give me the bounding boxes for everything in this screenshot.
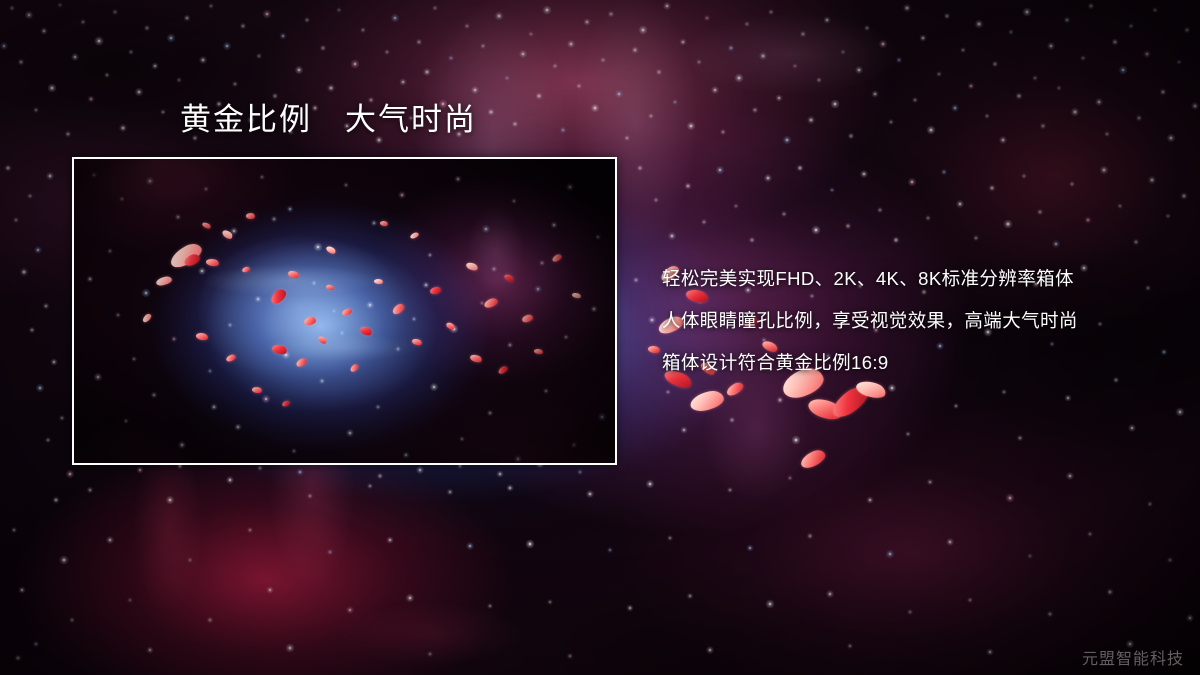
display-panel-frame [72, 157, 617, 465]
slide-canvas: 黄金比例 大气时尚 轻松完美实现FHD、2K、4K、8K标准分辨率箱体 人体眼睛… [0, 0, 1200, 675]
panel-vignette [74, 159, 615, 463]
body-line-2: 人体眼睛瞳孔比例，享受视觉效果，高端大气时尚 [662, 300, 1162, 342]
slide-title: 黄金比例 大气时尚 [180, 101, 477, 140]
watermark-label: 元盟智能科技 [1082, 645, 1184, 669]
flower-petal [647, 345, 660, 355]
flower-petal [828, 383, 872, 422]
flower-petal [806, 394, 844, 423]
flower-petal [798, 447, 827, 470]
display-panel-content [74, 159, 615, 463]
body-text-block: 轻松完美实现FHD、2K、4K、8K标准分辨率箱体 人体眼睛瞳孔比例，享受视觉效… [662, 258, 1162, 384]
body-line-1: 轻松完美实现FHD、2K、4K、8K标准分辨率箱体 [662, 258, 1162, 300]
body-line-3: 箱体设计符合黄金比例16:9 [662, 342, 1162, 384]
flower-petal [689, 389, 726, 414]
